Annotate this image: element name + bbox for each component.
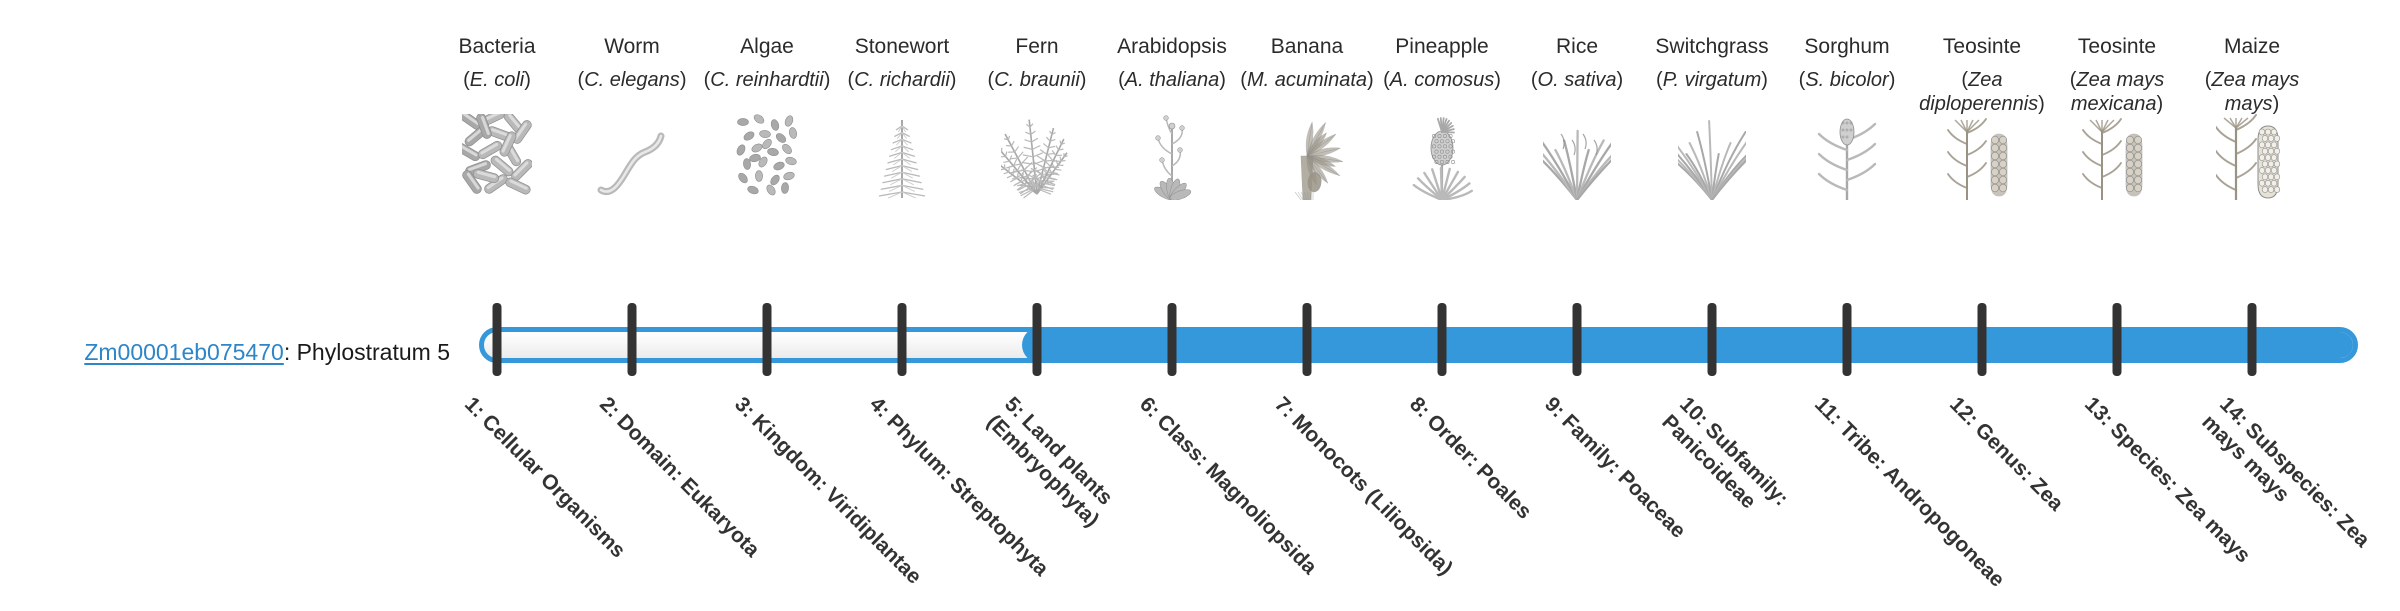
phylostratum-tick-4[interactable] <box>898 303 907 376</box>
species-common-name: Switchgrass <box>1645 34 1780 60</box>
phylostratum-value-text: Phylostratum 5 <box>297 339 450 365</box>
species-column-fern-5: Fern(C. braunii) <box>970 34 1105 92</box>
species-latin-name: (C. richardii) <box>835 68 970 92</box>
phylostratum-tick-12[interactable] <box>1978 303 1987 376</box>
phylostratigraphy-timeline: Zm00001eb075470: Phylostratum 5 Bacteria… <box>0 0 2400 580</box>
teosinte-mexicana-icon <box>2050 112 2185 200</box>
phylostratum-label-3: 3: Kingdom: Viridiplantae <box>729 392 931 594</box>
species-common-name: Bacteria <box>430 34 565 60</box>
species-latin-name: (S. bicolor) <box>1780 68 1915 92</box>
species-latin-text: M. acuminata <box>1247 69 1367 91</box>
phylostratum-tick-6[interactable] <box>1168 303 1177 376</box>
species-column-switchgrass-10: Switchgrass(P. virgatum) <box>1645 34 1780 92</box>
phylostratum-tick-9[interactable] <box>1573 303 1582 376</box>
species-latin-name: (C. elegans) <box>565 68 700 92</box>
fern-icon <box>970 112 1105 200</box>
phylostratum-label-2: 2: Domain: Eukaryota <box>594 392 796 594</box>
species-column-teosinte-12: Teosinte(Zea diploperennis) <box>1915 34 2050 116</box>
species-latin-name: (C. braunii) <box>970 68 1105 92</box>
phylostratum-label-6: 6: Class: Magnoliopsida <box>1134 392 1336 594</box>
species-column-sorghum-11: Sorghum(S. bicolor) <box>1780 34 1915 92</box>
phylostratum-label-11: 11: Tribe: Andropogoneae <box>1809 392 2011 594</box>
species-latin-text: C. reinhardtii <box>710 69 823 91</box>
species-common-name: Teosinte <box>1915 34 2050 60</box>
bacteria-icon <box>430 112 565 200</box>
species-latin-text: E. coli <box>470 69 524 91</box>
species-column-teosinte-13: Teosinte(Zea mays mexicana) <box>2050 34 2185 116</box>
species-latin-name: (A. comosus) <box>1375 68 1510 92</box>
phylostratum-progress-track[interactable] <box>479 327 2358 363</box>
species-latin-text: A. comosus <box>1390 69 1494 91</box>
species-common-name: Fern <box>970 34 1105 60</box>
algae-icon <box>700 112 835 200</box>
phylostratum-tick-8[interactable] <box>1438 303 1447 376</box>
species-column-algae-3: Algae(C. reinhardtii) <box>700 34 835 92</box>
phylostratum-label-7: 7: Monocots (Liliopsida) <box>1269 392 1471 594</box>
species-column-arabidopsis-6: Arabidopsis(A. thaliana) <box>1105 34 1240 92</box>
banana-icon <box>1240 112 1375 200</box>
phylostratum-tick-14[interactable] <box>2248 303 2257 376</box>
species-latin-text: Zea diploperennis <box>1919 69 2038 115</box>
species-latin-text: P. virgatum <box>1663 69 1762 91</box>
species-latin-name: (Zea mays mays) <box>2185 68 2320 116</box>
gene-label-separator: : <box>284 339 297 365</box>
phylostratum-label-1: 1: Cellular Organisms <box>459 392 661 594</box>
species-latin-text: Zea mays mexicana <box>2071 69 2164 115</box>
phylostratum-label-14: 14: Subspecies: Zea mays mays <box>2197 392 2400 611</box>
species-latin-text: C. elegans <box>584 69 680 91</box>
phylostratum-tick-11[interactable] <box>1843 303 1852 376</box>
phylostratum-tick-3[interactable] <box>763 303 772 376</box>
switchgrass-icon <box>1645 112 1780 200</box>
species-latin-text: Zea mays mays <box>2211 69 2299 115</box>
gene-row-label: Zm00001eb075470: Phylostratum 5 <box>0 338 450 366</box>
phylostratum-tick-10[interactable] <box>1708 303 1717 376</box>
phylostratum-tick-13[interactable] <box>2113 303 2122 376</box>
species-common-name: Banana <box>1240 34 1375 60</box>
species-latin-text: C. braunii <box>994 69 1080 91</box>
species-latin-name: (M. acuminata) <box>1240 68 1375 92</box>
species-column-worm-2: Worm(C. elegans) <box>565 34 700 92</box>
species-column-banana-7: Banana(M. acuminata) <box>1240 34 1375 92</box>
stonewort-icon <box>835 112 970 200</box>
phylostratum-label-10: 10: Subfamily: Panicoideae <box>1657 392 1876 611</box>
rice-icon <box>1510 112 1645 200</box>
phylostratum-progress-fill <box>1022 327 2358 363</box>
phylostratum-tick-7[interactable] <box>1303 303 1312 376</box>
teosinte-diploperennis-icon <box>1915 112 2050 200</box>
species-latin-name: (E. coli) <box>430 68 565 92</box>
species-column-rice-9: Rice(O. sativa) <box>1510 34 1645 92</box>
phylostratum-label-9: 9: Family: Poaceae <box>1539 392 1741 594</box>
species-latin-text: S. bicolor <box>1805 69 1888 91</box>
species-latin-name: (C. reinhardtii) <box>700 68 835 92</box>
species-column-bacteria-1: Bacteria(E. coli) <box>430 34 565 92</box>
pineapple-icon <box>1375 112 1510 200</box>
phylostratum-label-12: 12: Genus: Zea <box>1944 392 2146 594</box>
species-common-name: Teosinte <box>2050 34 2185 60</box>
species-common-name: Pineapple <box>1375 34 1510 60</box>
species-latin-name: (Zea diploperennis) <box>1915 68 2050 116</box>
species-column-maize-14: Maize(Zea mays mays) <box>2185 34 2320 116</box>
species-latin-text: A. thaliana <box>1125 69 1220 91</box>
species-latin-text: C. richardii <box>854 69 950 91</box>
species-common-name: Algae <box>700 34 835 60</box>
gene-id-link[interactable]: Zm00001eb075470 <box>84 339 284 365</box>
species-latin-name: (Zea mays mexicana) <box>2050 68 2185 116</box>
species-common-name: Worm <box>565 34 700 60</box>
phylostratum-tick-2[interactable] <box>628 303 637 376</box>
species-common-name: Rice <box>1510 34 1645 60</box>
worm-icon <box>565 112 700 200</box>
species-latin-name: (P. virgatum) <box>1645 68 1780 92</box>
species-common-name: Stonewort <box>835 34 970 60</box>
species-latin-name: (O. sativa) <box>1510 68 1645 92</box>
phylostratum-label-13: 13: Species: Zea mays <box>2079 392 2281 594</box>
species-common-name: Maize <box>2185 34 2320 60</box>
species-latin-text: O. sativa <box>1538 69 1617 91</box>
phylostratum-tick-5[interactable] <box>1033 303 1042 376</box>
species-column-pineapple-8: Pineapple(A. comosus) <box>1375 34 1510 92</box>
species-latin-name: (A. thaliana) <box>1105 68 1240 92</box>
arabidopsis-icon <box>1105 112 1240 200</box>
phylostratum-label-5: 5: Land plants (Embryophyta) <box>982 392 1201 611</box>
sorghum-icon <box>1780 112 1915 200</box>
phylostratum-tick-1[interactable] <box>493 303 502 376</box>
phylostratum-label-8: 8: Order: Poales <box>1404 392 1606 594</box>
species-common-name: Arabidopsis <box>1105 34 1240 60</box>
species-column-stonewort-4: Stonewort(C. richardii) <box>835 34 970 92</box>
species-columns: Bacteria(E. coli) <box>0 0 2400 300</box>
phylostratum-label-4: 4: Phylum: Streptophyta <box>864 392 1066 594</box>
maize-icon <box>2185 112 2320 200</box>
species-common-name: Sorghum <box>1780 34 1915 60</box>
